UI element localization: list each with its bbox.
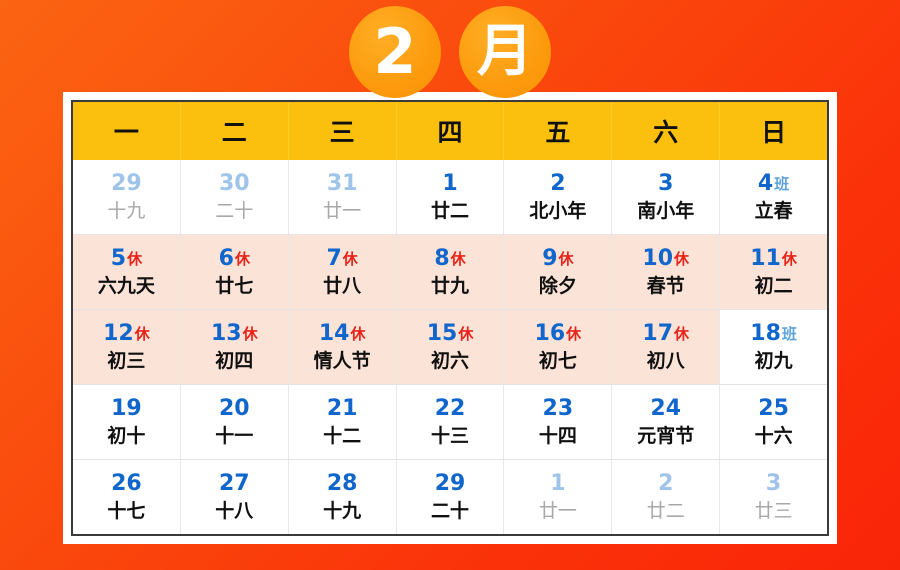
weekday-header-cell: 一: [73, 102, 181, 160]
restday-badge: 休: [782, 252, 797, 267]
day-cell[interactable]: 5休六九天: [73, 235, 181, 309]
day-number: 29: [111, 173, 142, 195]
lunar-label: 廿一: [323, 202, 361, 221]
day-number: 26: [111, 473, 142, 495]
day-number-line: 24: [650, 398, 681, 424]
weekday-header-cell: 三: [289, 102, 397, 160]
day-cell[interactable]: 1廿一: [504, 460, 612, 534]
day-number-line: 13休: [211, 323, 258, 349]
month-number-text: 2: [373, 21, 416, 83]
day-cell[interactable]: 26十七: [73, 460, 181, 534]
month-unit-text: 月: [477, 24, 533, 80]
day-number-line: 6休: [219, 248, 250, 274]
day-number-line: 22: [435, 398, 466, 424]
day-number: 14: [319, 323, 350, 345]
lunar-label: 初四: [215, 352, 253, 371]
day-cell[interactable]: 12休初三: [73, 310, 181, 384]
day-number: 19: [111, 398, 142, 420]
lunar-label: 廿九: [431, 277, 469, 296]
day-number: 30: [219, 173, 250, 195]
calendar-poster: 2 月 一二三四五六日 29十九30二十31廿一1廿二2北小年3南小年4班立春5…: [0, 0, 900, 570]
day-cell[interactable]: 25十六: [720, 385, 827, 459]
month-badge-group: 2 月: [0, 6, 900, 106]
day-number: 16: [535, 323, 566, 345]
day-number-line: 30: [219, 173, 250, 199]
day-cell[interactable]: 28十九: [289, 460, 397, 534]
day-number: 2: [550, 173, 565, 195]
day-cell[interactable]: 31廿一: [289, 160, 397, 234]
day-number-line: 1: [442, 173, 457, 199]
day-cell[interactable]: 19初十: [73, 385, 181, 459]
day-cell[interactable]: 13休初四: [181, 310, 289, 384]
lunar-label: 六九天: [98, 277, 155, 296]
day-number-line: 28: [327, 473, 358, 499]
day-cell[interactable]: 29十九: [73, 160, 181, 234]
day-number-line: 19: [111, 398, 142, 424]
lunar-label: 北小年: [529, 202, 586, 221]
day-cell[interactable]: 14休情人节: [289, 310, 397, 384]
day-number: 5: [111, 248, 126, 270]
week-row: 19初十20十一21十二22十三23十四24元宵节25十六: [73, 384, 827, 459]
lunar-label: 南小年: [637, 202, 694, 221]
lunar-label: 立春: [755, 202, 793, 221]
day-number: 8: [434, 248, 449, 270]
restday-badge: 休: [674, 327, 689, 342]
lunar-label: 初七: [539, 352, 577, 371]
week-row: 29十九30二十31廿一1廿二2北小年3南小年4班立春: [73, 160, 827, 234]
day-cell[interactable]: 15休初六: [397, 310, 505, 384]
day-cell[interactable]: 6休廿七: [181, 235, 289, 309]
lunar-label: 二十: [215, 202, 253, 221]
day-cell[interactable]: 29二十: [397, 460, 505, 534]
lunar-label: 十六: [755, 427, 793, 446]
lunar-label: 十七: [107, 502, 145, 521]
restday-badge: 休: [674, 252, 689, 267]
workday-badge: 班: [774, 177, 789, 192]
day-number-line: 25: [758, 398, 789, 424]
lunar-label: 十八: [215, 502, 253, 521]
day-number-line: 14休: [319, 323, 366, 349]
day-number-line: 3: [766, 473, 781, 499]
day-number: 1: [442, 173, 457, 195]
weekday-header-cell: 六: [612, 102, 720, 160]
day-number: 11: [750, 248, 781, 270]
lunar-label: 廿二: [647, 502, 685, 521]
calendar-weeks: 29十九30二十31廿一1廿二2北小年3南小年4班立春5休六九天6休廿七7休廿八…: [73, 160, 827, 534]
day-number: 20: [219, 398, 250, 420]
day-cell[interactable]: 21十二: [289, 385, 397, 459]
lunar-label: 二十: [431, 502, 469, 521]
lunar-label: 初六: [431, 352, 469, 371]
day-number: 28: [327, 473, 358, 495]
lunar-label: 初十: [107, 427, 145, 446]
day-cell[interactable]: 10休春节: [612, 235, 720, 309]
day-number: 13: [211, 323, 242, 345]
day-number-line: 1: [550, 473, 565, 499]
day-cell[interactable]: 24元宵节: [612, 385, 720, 459]
lunar-label: 初二: [755, 277, 793, 296]
day-number: 17: [642, 323, 673, 345]
day-number-line: 15休: [427, 323, 474, 349]
day-number-line: 11休: [750, 248, 797, 274]
lunar-label: 廿一: [539, 502, 577, 521]
day-cell[interactable]: 9休除夕: [504, 235, 612, 309]
lunar-label: 廿二: [431, 202, 469, 221]
weekday-header-cell: 五: [504, 102, 612, 160]
lunar-label: 廿三: [755, 502, 793, 521]
restday-badge: 休: [127, 252, 142, 267]
lunar-label: 初九: [755, 352, 793, 371]
day-number: 29: [435, 473, 466, 495]
restday-badge: 休: [343, 252, 358, 267]
lunar-label: 十三: [431, 427, 469, 446]
day-cell[interactable]: 30二十: [181, 160, 289, 234]
day-number-line: 8休: [434, 248, 465, 274]
day-number-line: 3: [658, 173, 673, 199]
day-number: 15: [427, 323, 458, 345]
day-number-line: 29: [111, 173, 142, 199]
restday-badge: 休: [243, 327, 258, 342]
day-number: 21: [327, 398, 358, 420]
lunar-label: 元宵节: [637, 427, 694, 446]
lunar-label: 廿八: [323, 277, 361, 296]
day-number-line: 12休: [103, 323, 150, 349]
day-number: 9: [542, 248, 557, 270]
day-number: 1: [550, 473, 565, 495]
day-cell[interactable]: 11休初二: [720, 235, 827, 309]
day-number: 4: [758, 173, 773, 195]
lunar-label: 廿七: [215, 277, 253, 296]
restday-badge: 休: [458, 327, 473, 342]
weekday-header-cell: 日: [720, 102, 827, 160]
day-number-line: 9休: [542, 248, 573, 274]
week-row: 26十七27十八28十九29二十1廿一2廿二3廿三: [73, 459, 827, 534]
day-number-line: 7休: [326, 248, 357, 274]
weekday-header-cell: 四: [397, 102, 505, 160]
day-number: 3: [658, 173, 673, 195]
day-number-line: 31: [327, 173, 358, 199]
month-number-badge: 2: [349, 6, 441, 98]
lunar-label: 初八: [647, 352, 685, 371]
day-number: 7: [326, 248, 341, 270]
day-cell[interactable]: 2北小年: [504, 160, 612, 234]
day-number-line: 20: [219, 398, 250, 424]
day-number-line: 21: [327, 398, 358, 424]
day-number-line: 2: [550, 173, 565, 199]
lunar-label: 春节: [647, 277, 685, 296]
day-cell[interactable]: 18班初九: [720, 310, 827, 384]
weekday-header-cell: 二: [181, 102, 289, 160]
lunar-label: 十四: [539, 427, 577, 446]
day-cell[interactable]: 3廿三: [720, 460, 827, 534]
day-cell[interactable]: 4班立春: [720, 160, 827, 234]
lunar-label: 十二: [323, 427, 361, 446]
restday-badge: 休: [235, 252, 250, 267]
restday-badge: 休: [135, 327, 150, 342]
day-number: 6: [219, 248, 234, 270]
day-cell[interactable]: 8休廿九: [397, 235, 505, 309]
lunar-label: 初三: [107, 352, 145, 371]
day-number-line: 17休: [642, 323, 689, 349]
lunar-label: 十九: [323, 502, 361, 521]
day-cell[interactable]: 3南小年: [612, 160, 720, 234]
week-row: 5休六九天6休廿七7休廿八8休廿九9休除夕10休春节11休初二: [73, 234, 827, 309]
month-unit-badge: 月: [459, 6, 551, 98]
day-number-line: 2: [658, 473, 673, 499]
day-number-line: 26: [111, 473, 142, 499]
day-number-line: 16休: [535, 323, 582, 349]
day-number: 25: [758, 398, 789, 420]
day-number: 18: [750, 323, 781, 345]
day-cell[interactable]: 2廿二: [612, 460, 720, 534]
restday-badge: 休: [559, 252, 574, 267]
day-number-line: 10休: [642, 248, 689, 274]
lunar-label: 情人节: [314, 352, 371, 371]
restday-badge: 休: [350, 327, 365, 342]
day-cell[interactable]: 1廿二: [397, 160, 505, 234]
lunar-label: 除夕: [539, 277, 577, 296]
day-number: 12: [103, 323, 134, 345]
calendar-frame: 一二三四五六日 29十九30二十31廿一1廿二2北小年3南小年4班立春5休六九天…: [63, 92, 837, 544]
day-number: 3: [766, 473, 781, 495]
day-number: 23: [543, 398, 574, 420]
day-cell[interactable]: 7休廿八: [289, 235, 397, 309]
day-number: 10: [642, 248, 673, 270]
day-cell[interactable]: 20十一: [181, 385, 289, 459]
restday-badge: 休: [451, 252, 466, 267]
lunar-label: 十一: [215, 427, 253, 446]
day-cell[interactable]: 23十四: [504, 385, 612, 459]
day-number: 31: [327, 173, 358, 195]
day-number-line: 27: [219, 473, 250, 499]
day-number: 24: [650, 398, 681, 420]
day-number-line: 23: [543, 398, 574, 424]
lunar-label: 十九: [107, 202, 145, 221]
week-row: 12休初三13休初四14休情人节15休初六16休初七17休初八18班初九: [73, 309, 827, 384]
day-number: 27: [219, 473, 250, 495]
restday-badge: 休: [566, 327, 581, 342]
day-cell[interactable]: 22十三: [397, 385, 505, 459]
workday-badge: 班: [782, 327, 797, 342]
day-number-line: 4班: [758, 173, 789, 199]
day-number-line: 29: [435, 473, 466, 499]
day-number-line: 18班: [750, 323, 797, 349]
day-number: 22: [435, 398, 466, 420]
weekday-header-row: 一二三四五六日: [73, 102, 827, 160]
calendar-body: 一二三四五六日 29十九30二十31廿一1廿二2北小年3南小年4班立春5休六九天…: [71, 100, 829, 536]
day-cell[interactable]: 16休初七: [504, 310, 612, 384]
day-number-line: 5休: [111, 248, 142, 274]
day-cell[interactable]: 17休初八: [612, 310, 720, 384]
day-number: 2: [658, 473, 673, 495]
day-cell[interactable]: 27十八: [181, 460, 289, 534]
